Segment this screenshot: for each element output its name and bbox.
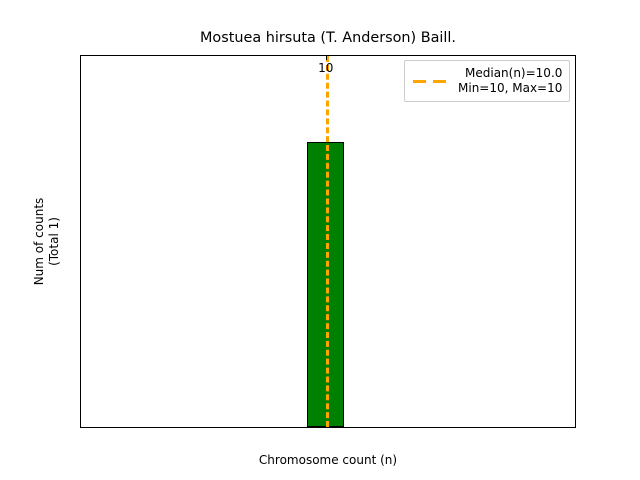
legend[interactable]: Median(n)=10.0 Min=10, Max=10: [404, 60, 570, 102]
legend-line-minmax: Min=10, Max=10: [458, 81, 562, 96]
y-axis-label-line1: Num of counts: [32, 55, 47, 428]
figure-canvas: Mostuea hirsuta (T. Anderson) Baill. 0 1…: [0, 0, 640, 480]
median-line: [326, 56, 329, 427]
xtick-mark-10: [326, 56, 327, 60]
legend-dashed-line-icon: [412, 75, 450, 87]
y-axis-label-line2: (Total 1): [47, 55, 62, 428]
ytick-mark-0: [80, 427, 81, 428]
legend-entry-text: Median(n)=10.0 Min=10, Max=10: [458, 66, 562, 96]
legend-line-median: Median(n)=10.0: [458, 66, 562, 81]
plot-area: 0 1 10: [80, 55, 576, 428]
y-axis-label: Num of counts (Total 1): [32, 55, 62, 428]
x-axis-label: Chromosome count (n): [80, 453, 576, 467]
xtick-label-10: 10: [318, 62, 333, 74]
page-title: Mostuea hirsuta (T. Anderson) Baill.: [80, 30, 576, 47]
ytick-mark-1: [80, 142, 81, 143]
